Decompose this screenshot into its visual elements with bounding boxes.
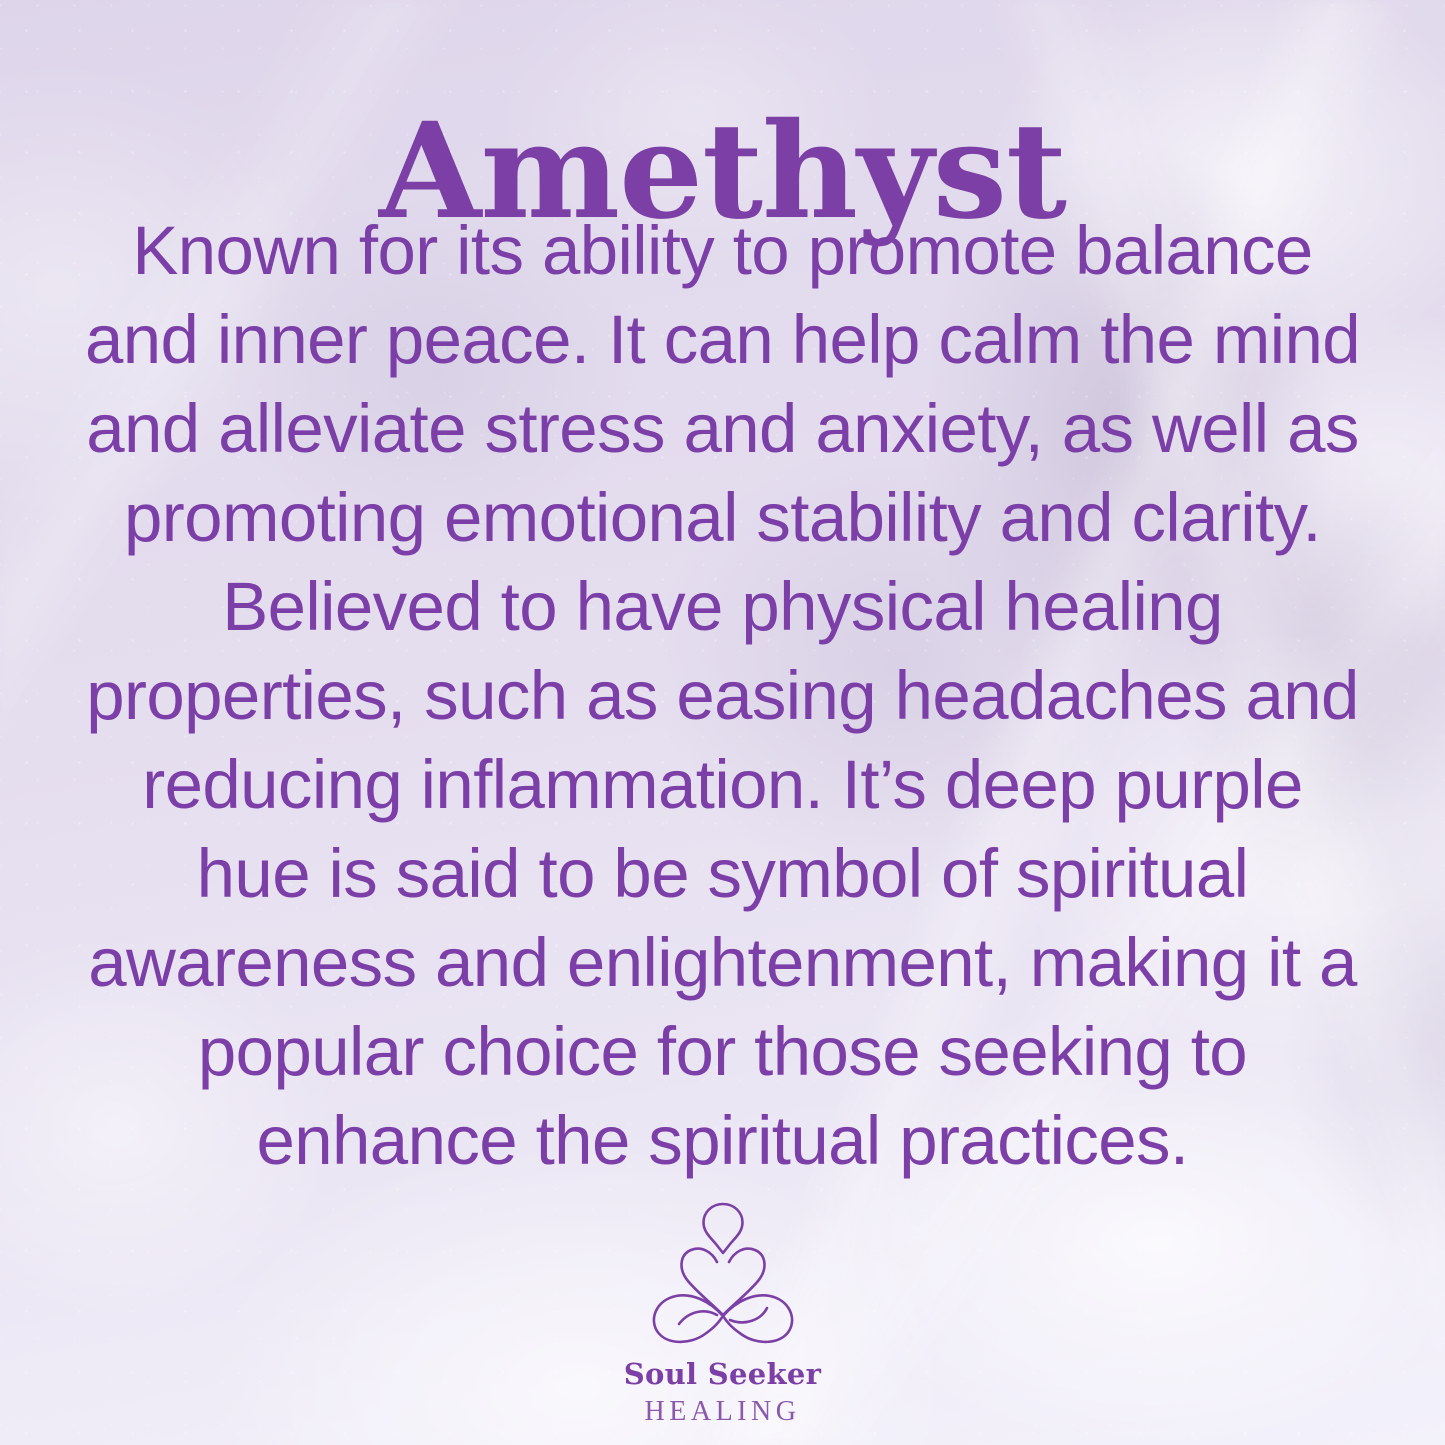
amethyst-crystal-info-card: Amethyst Known for its ability to promot… [0, 0, 1445, 1445]
infinity-inner-curl-right-icon [730, 1308, 767, 1322]
teardrop-head-icon [703, 1204, 742, 1253]
description-line: and inner peace. It can help calm the mi… [46, 295, 1399, 384]
description-text: Known for its ability to promote balance… [46, 206, 1399, 1185]
brand-name: Soul Seeker [624, 1360, 821, 1389]
description-line: properties, such as easing headaches and [46, 651, 1399, 740]
brand-logo: Soul Seeker HEALING [0, 1196, 1445, 1426]
meditating-figure-heart-infinity-logo-icon [635, 1196, 811, 1364]
description-line: Known for its ability to promote balance [46, 206, 1399, 295]
description-line: reducing inflammation. It’s deep purple [46, 740, 1399, 829]
description-line: promoting emotional stability and clarit… [46, 473, 1399, 562]
description-line: hue is said to be symbol of spiritual [46, 829, 1399, 918]
description-line: and alleviate stress and anxiety, as wel… [46, 384, 1399, 473]
card-content: Amethyst Known for its ability to promot… [0, 0, 1445, 1445]
description-line: enhance the spiritual practices. [46, 1096, 1399, 1185]
brand-tagline: HEALING [645, 1398, 801, 1426]
description-line: awareness and enlightenment, making it a [46, 918, 1399, 1007]
infinity-legs-icon [653, 1295, 791, 1342]
description-line: popular choice for those seeking to [46, 1007, 1399, 1096]
description-line: Believed to have physical healing [46, 562, 1399, 651]
infinity-inner-curl-left-icon [679, 1311, 717, 1324]
heart-torso-icon [681, 1249, 722, 1315]
heart-torso-right-icon [723, 1249, 764, 1315]
